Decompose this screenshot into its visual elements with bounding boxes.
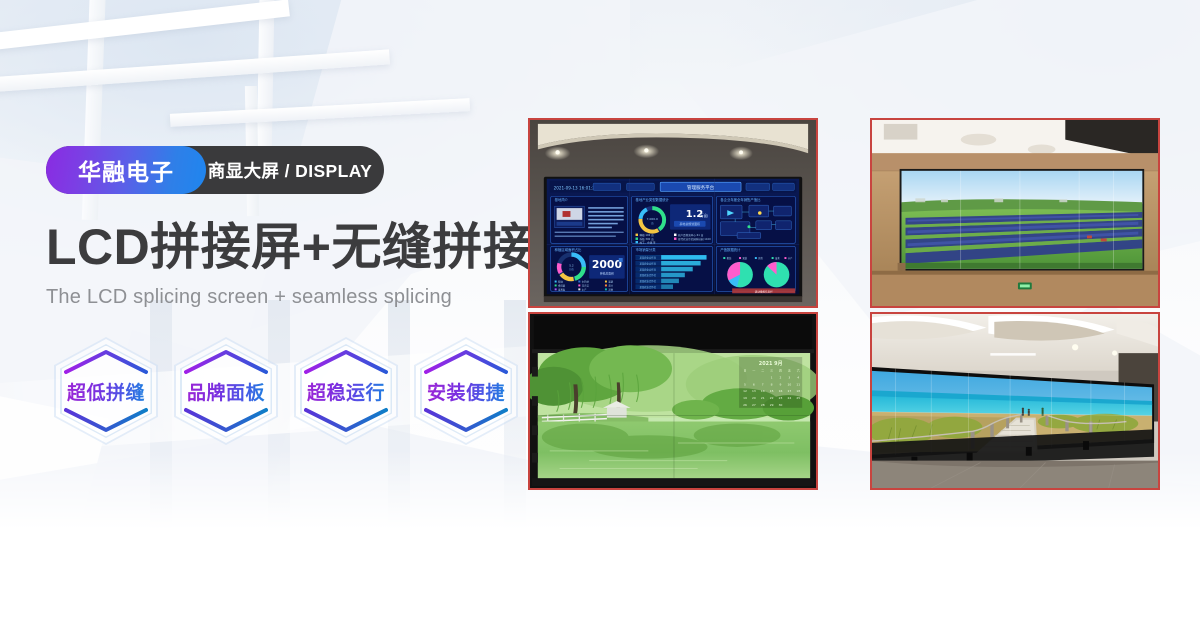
svg-text:种植总面积: 种植总面积: [600, 272, 614, 276]
svg-text:13: 13: [752, 389, 756, 393]
svg-text:其他: 其他: [758, 256, 763, 260]
svg-text:28: 28: [761, 403, 765, 407]
chevron-up-icon: [424, 349, 508, 375]
svg-text:各企业年度全年销售产值比: 各企业年度全年销售产值比: [720, 197, 761, 202]
svg-text:六: 六: [797, 368, 800, 373]
svg-text:6: 6: [753, 382, 755, 386]
chevron-up-icon: [184, 349, 268, 375]
feature-hex-3: 超稳运行: [286, 335, 406, 447]
svg-text:畜禽: 畜禽: [775, 256, 780, 260]
svg-text:粮油: 粮油: [558, 280, 563, 284]
svg-text:5.2: 5.2: [569, 263, 574, 267]
svg-text:种植区域面积占比: 种植区域面积占比: [555, 247, 582, 252]
svg-text:万亩: 万亩: [700, 212, 708, 218]
svg-text:粮油: 粮油: [727, 256, 732, 260]
svg-text:26: 26: [743, 403, 747, 407]
feature-label: 超低拼缝: [67, 378, 145, 405]
feature-hex-2: 品牌面板: [166, 335, 286, 447]
svg-text:滚动播报信息栏: 滚动播报信息栏: [755, 289, 773, 293]
svg-text:29: 29: [770, 403, 774, 407]
chevron-down-icon: [304, 407, 388, 433]
svg-text:23: 23: [779, 396, 783, 400]
svg-text:某某农业合作社: 某某农业合作社: [639, 256, 656, 260]
svg-text:市场销量分类: 市场销量分类: [636, 247, 657, 252]
svg-text:花卉苗: 花卉苗: [582, 283, 590, 287]
svg-text:管理服务平台: 管理服务平台: [687, 184, 715, 191]
headline-block: 华融电子 商显大屏 / DISPLAY LCD拼接屏+无缝拼接 The LCD …: [46, 146, 526, 447]
svg-text:基地产业类型数据统计: 基地产业类型数据统计: [636, 197, 670, 202]
svg-text:2021-09-13 16:01:27: 2021-09-13 16:01:27: [554, 186, 598, 191]
brand-category-label: 商显大屏 / DISPLAY: [208, 158, 372, 183]
chevron-up-icon: [64, 349, 148, 375]
page-title: LCD拼接屏+无缝拼接: [46, 220, 526, 274]
calendar-overlay: 2021 9月 日一二 三四五六 1234 5678 91011 1213141…: [739, 357, 802, 408]
svg-text:9: 9: [780, 382, 782, 386]
svg-text:其他: 其他: [608, 287, 613, 291]
svg-text:日: 日: [744, 369, 747, 373]
photo-data-dashboard-video-wall[interactable]: 2021-09-13 16:01:27 管理服务平台 基地简介: [528, 118, 818, 308]
svg-text:产值数据统计: 产值数据统计: [720, 247, 741, 252]
svg-text:3: 3: [788, 376, 790, 380]
svg-text:加工、仓储 等: 加工、仓储 等: [639, 240, 656, 244]
photo-lakeside-video-wall[interactable]: 2021 9月 日一二 三四五六 1234 5678 91011 1213141…: [528, 312, 818, 490]
svg-text:19: 19: [743, 396, 747, 400]
svg-text:17: 17: [787, 389, 791, 393]
svg-text:三: 三: [770, 369, 773, 373]
feature-label: 安装便捷: [427, 378, 505, 405]
brand-badge: 华融电子 商显大屏 / DISPLAY: [46, 146, 384, 194]
feature-hex-4: 安装便捷: [406, 335, 526, 447]
svg-text:2: 2: [780, 376, 782, 380]
svg-text:21: 21: [761, 396, 765, 400]
svg-text:某某农业合作社: 某某农业合作社: [639, 273, 656, 277]
feature-label: 品牌面板: [187, 378, 265, 405]
svg-text:1: 1: [771, 376, 773, 380]
svg-text:四: 四: [779, 369, 782, 373]
svg-text:基地总规划面积: 基地总规划面积: [679, 221, 700, 226]
svg-text:水产: 水产: [788, 256, 793, 260]
svg-text:24: 24: [787, 396, 791, 400]
svg-text:22: 22: [770, 396, 774, 400]
feature-list: 超低拼缝 品牌面板: [46, 335, 526, 447]
chevron-down-icon: [64, 407, 148, 433]
svg-text:25: 25: [796, 396, 800, 400]
brand-category-pill: 商显大屏 / DISPLAY: [206, 146, 384, 194]
svg-text:畜禽类: 畜禽类: [558, 287, 566, 291]
promo-banner: 华融电子 商显大屏 / DISPLAY LCD拼接屏+无缝拼接 The LCD …: [0, 0, 1200, 640]
svg-text:一: 一: [752, 369, 755, 373]
svg-text:万亩: 万亩: [569, 267, 574, 271]
svg-text:20: 20: [752, 396, 756, 400]
svg-text:4: 4: [797, 376, 799, 380]
svg-text:二: 二: [761, 369, 764, 373]
svg-text:水产: 水产: [582, 287, 587, 291]
photo-solar-farm-video-wall[interactable]: [870, 118, 1160, 308]
svg-text:食用菌: 食用菌: [558, 283, 566, 287]
svg-text:茶叶: 茶叶: [608, 283, 613, 287]
svg-text:养殖 300 亩: 养殖 300 亩: [639, 237, 654, 241]
svg-text:某某农业合作社: 某某农业合作社: [639, 285, 656, 289]
svg-text:14: 14: [761, 389, 765, 393]
svg-text:某某农业合作社: 某某农业合作社: [639, 279, 656, 283]
feature-hex-1: 超低拼缝: [46, 335, 166, 447]
page-subtitle: The LCD splicing screen + seamless splic…: [46, 286, 526, 309]
svg-text:果蔬: 果蔬: [608, 280, 613, 284]
svg-text:果蔬: 果蔬: [743, 256, 748, 260]
svg-text:5: 5: [744, 382, 746, 386]
photo-beach-boardwalk-video-wall[interactable]: [870, 312, 1160, 490]
svg-text:某某农业合作社: 某某农业合作社: [639, 262, 656, 266]
brand-name-label: 华融电子: [78, 153, 174, 187]
svg-text:2021 9月: 2021 9月: [759, 360, 783, 367]
svg-text:种植 102 亩: 种植 102 亩: [639, 233, 654, 237]
svg-text:11: 11: [796, 382, 800, 386]
svg-text:7,000.0: 7,000.0: [647, 217, 658, 221]
feature-label: 超稳运行: [307, 378, 385, 405]
svg-text:16: 16: [779, 389, 783, 393]
svg-text:15: 15: [770, 389, 774, 393]
svg-text:农产品物流中心 61 亩: 农产品物流中心 61 亩: [678, 233, 704, 237]
chevron-up-icon: [304, 349, 388, 375]
chevron-down-icon: [184, 407, 268, 433]
chevron-down-icon: [424, 407, 508, 433]
product-photo-gallery: 2021-09-13 16:01:27 管理服务平台 基地简介: [528, 118, 1160, 490]
svg-text:某某农业合作社: 某某农业合作社: [639, 267, 656, 271]
svg-text:30: 30: [779, 403, 783, 407]
brand-name-pill: 华融电子: [46, 146, 206, 194]
svg-text:基地简介: 基地简介: [555, 197, 569, 202]
svg-text:10: 10: [787, 382, 791, 386]
svg-text:27: 27: [752, 403, 756, 407]
svg-text:2000: 2000: [592, 258, 622, 271]
svg-text:18: 18: [796, 389, 800, 393]
svg-text:五: 五: [788, 369, 791, 373]
svg-text:现代农业示范园科技园 1100: 现代农业示范园科技园 1100: [678, 237, 711, 241]
svg-text:12: 12: [743, 389, 747, 393]
svg-text:8: 8: [771, 382, 773, 386]
svg-text:7: 7: [762, 382, 764, 386]
svg-text:中药材: 中药材: [582, 280, 590, 284]
